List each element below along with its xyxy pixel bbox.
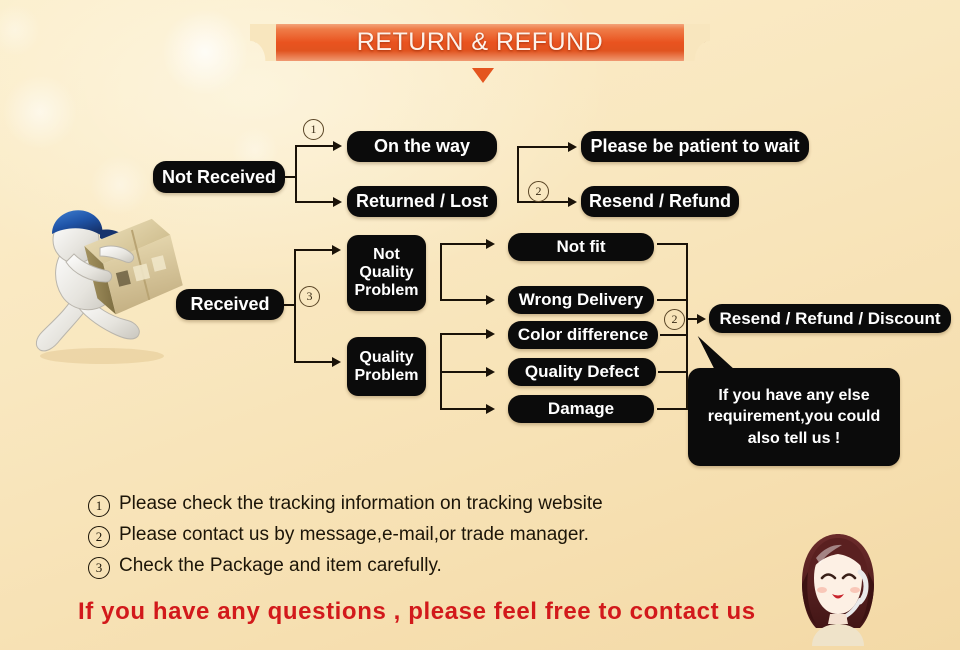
connector-to-quality-problem	[294, 361, 335, 363]
marker-2-flow-right: 2	[664, 309, 685, 330]
connector-received-split	[294, 249, 296, 363]
flow-box-resend-refund-discount[interactable]: Resend / Refund / Discount	[709, 304, 951, 333]
flow-box-label: Color difference	[518, 325, 648, 344]
flow-box-label-line-1: Not	[373, 246, 400, 264]
connector-to-not-fit	[440, 243, 488, 245]
arrow-to-on-the-way-icon	[333, 141, 342, 151]
connector-stage2-collector	[517, 146, 519, 202]
arrow-to-resend-refund-discount-icon	[697, 314, 706, 324]
connector-to-quality-defect	[440, 371, 488, 373]
marker-2-label: 2	[672, 312, 678, 327]
flow-box-not-quality-problem[interactable]: Not Quality Problem	[347, 235, 426, 311]
connector-to-damage	[440, 408, 488, 410]
note-item: 3 Check the Package and item carefully.	[88, 555, 728, 579]
banner-down-arrow-icon	[472, 68, 494, 83]
speech-bubble-text: If you have any else requirement,you cou…	[696, 385, 892, 448]
collector-stub-quality-defect	[658, 371, 688, 373]
speech-bubble: If you have any else requirement,you cou…	[688, 368, 900, 466]
flow-box-returned-lost[interactable]: Returned / Lost	[347, 186, 497, 217]
note-text: Check the Package and item carefully.	[119, 555, 442, 578]
arrow-to-not-fit-icon	[486, 239, 495, 249]
connector-to-color-difference	[440, 333, 488, 335]
marker-1-flow: 1	[303, 119, 324, 140]
flow-box-received[interactable]: Received	[176, 289, 284, 320]
flow-box-quality-problem[interactable]: Quality Problem	[347, 337, 426, 396]
flow-box-damage[interactable]: Damage	[508, 395, 654, 423]
connector-to-wrong-delivery	[440, 299, 488, 301]
flow-box-label: Not fit	[556, 237, 605, 256]
flow-box-label: Please be patient to wait	[590, 136, 799, 156]
flow-box-wrong-delivery[interactable]: Wrong Delivery	[508, 286, 654, 314]
collector-stub-not-fit	[657, 243, 688, 245]
flow-box-label: On the way	[374, 136, 470, 156]
marker-1-label: 1	[311, 122, 317, 137]
flow-box-please-be-patient[interactable]: Please be patient to wait	[581, 131, 809, 162]
arrow-to-please-be-patient-icon	[568, 142, 577, 152]
marker-3-label: 3	[307, 289, 313, 304]
notes-list: 1 Please check the tracking information …	[88, 493, 728, 586]
flow-box-color-difference[interactable]: Color difference	[508, 321, 658, 349]
flow-box-not-received[interactable]: Not Received	[153, 161, 285, 193]
flow-box-label-line-2: Quality	[359, 264, 413, 282]
arrow-to-not-quality-problem-icon	[332, 245, 341, 255]
note-number: 3	[88, 557, 110, 579]
flow-box-label: Received	[190, 294, 269, 314]
connector-not-quality-split	[440, 243, 442, 301]
note-item: 1 Please check the tracking information …	[88, 493, 728, 517]
ribbon-curve-right	[684, 24, 710, 61]
flow-box-label: Quality Defect	[525, 362, 639, 381]
connector-to-returned-lost	[295, 201, 336, 203]
banner-ribbon: RETURN & REFUND	[274, 24, 686, 61]
arrow-to-damage-icon	[486, 404, 495, 414]
footer-contact-message: If you have any questions , please feel …	[78, 598, 808, 626]
flow-box-label: Damage	[548, 399, 614, 418]
flow-box-label-line-2: Problem	[354, 367, 418, 385]
connector-to-not-quality-problem	[294, 249, 335, 251]
collector-stub-damage	[657, 408, 688, 410]
collector-stub-color-difference	[660, 334, 688, 336]
marker-3-flow: 3	[299, 286, 320, 307]
ribbon-curve-left	[250, 24, 276, 61]
flow-box-quality-defect[interactable]: Quality Defect	[508, 358, 656, 386]
page-title: RETURN & REFUND	[274, 24, 686, 61]
flow-box-label: Resend / Refund	[589, 191, 731, 211]
note-text: Please check the tracking information on…	[119, 493, 603, 516]
flow-box-label-line-3: Problem	[354, 282, 418, 300]
courier-illustration	[14, 196, 184, 366]
collector-stub-wrong-delivery	[657, 299, 688, 301]
flow-box-label: Resend / Refund / Discount	[719, 309, 940, 328]
flow-box-label: Wrong Delivery	[519, 290, 643, 309]
arrow-to-wrong-delivery-icon	[486, 295, 495, 305]
flow-box-not-fit[interactable]: Not fit	[508, 233, 654, 261]
arrow-to-returned-lost-icon	[333, 197, 342, 207]
note-number: 2	[88, 526, 110, 548]
arrow-to-quality-problem-icon	[332, 357, 341, 367]
flow-box-resend-refund[interactable]: Resend / Refund	[581, 186, 739, 217]
note-item: 2 Please contact us by message,e-mail,or…	[88, 524, 728, 548]
marker-2-label: 2	[536, 184, 542, 199]
flow-box-on-the-way[interactable]: On the way	[347, 131, 497, 162]
arrow-to-resend-refund-icon	[568, 197, 577, 207]
flow-box-label: Not Received	[162, 167, 276, 187]
connector-to-please-be-patient	[517, 146, 571, 148]
connector-not-received-split	[295, 145, 297, 203]
arrow-to-color-difference-icon	[486, 329, 495, 339]
marker-2-flow-top: 2	[528, 181, 549, 202]
return-refund-infographic: RETURN & REFUND	[0, 0, 960, 650]
connector-to-resend-refund	[517, 201, 571, 203]
note-text: Please contact us by message,e-mail,or t…	[119, 524, 589, 547]
connector-to-on-the-way	[295, 145, 336, 147]
support-agent-illustration	[790, 528, 886, 646]
arrow-to-quality-defect-icon	[486, 367, 495, 377]
note-number: 1	[88, 495, 110, 517]
flow-box-label: Returned / Lost	[356, 191, 488, 211]
flow-box-label-line-1: Quality	[359, 349, 413, 367]
